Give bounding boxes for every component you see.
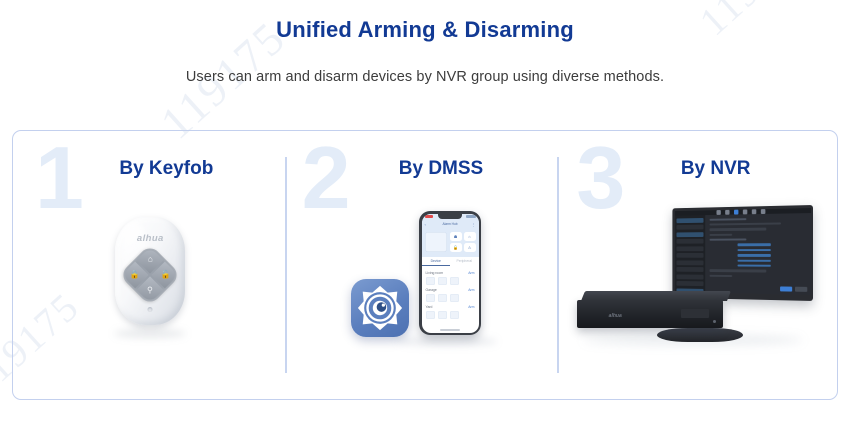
list-item[interactable]: Garage Arm: [426, 288, 475, 292]
device-chip-icon: [426, 277, 435, 285]
content-line: [709, 275, 732, 278]
group-action[interactable]: Arm: [468, 288, 474, 292]
sos-icon[interactable]: ⚠: [464, 243, 476, 252]
ai-icon[interactable]: [742, 209, 746, 214]
live-view-icon[interactable]: [716, 210, 720, 215]
method-title-keyfob: By Keyfob: [13, 158, 288, 180]
app-nav-bar: ‹ Alarm Hub ⋮: [422, 220, 479, 229]
method-column-nvr: 3 By NVR: [562, 131, 837, 399]
sidebar-item[interactable]: [676, 218, 703, 223]
nvr-body: [674, 213, 810, 295]
settings-icon[interactable]: [751, 209, 756, 214]
more-icon[interactable]: ⋮: [472, 222, 476, 227]
battery-icon: [466, 215, 476, 218]
device-chip-icon: [450, 311, 459, 319]
keyfob-shadow: [114, 329, 186, 338]
device-chip-icon: [450, 294, 459, 302]
device-group-list: Living room Arm Garage Arm Yard: [422, 266, 479, 319]
nvr-drive-slot: [681, 309, 709, 318]
method-title-nvr: By NVR: [562, 158, 837, 180]
content-line: [737, 244, 771, 246]
nvr-sidebar: [674, 215, 704, 295]
content-line: [709, 239, 747, 242]
content-line: [737, 249, 771, 251]
page-title: Unified Arming & Disarming: [0, 0, 850, 43]
back-icon[interactable]: ‹: [425, 222, 426, 227]
nvr-action-buttons: [779, 286, 806, 291]
app-hero-section: ☗ ⌂ 🔓 ⚠: [422, 229, 479, 257]
content-line: [737, 265, 771, 268]
keyfob-led-icon: [148, 307, 153, 312]
sidebar-item[interactable]: [676, 232, 703, 237]
nvr-recorder: alhua: [577, 291, 729, 331]
sidebar-item[interactable]: [676, 246, 703, 251]
group-action[interactable]: Arm: [468, 271, 474, 275]
disarm-icon[interactable]: 🔓: [450, 243, 462, 252]
monitor: [672, 205, 813, 301]
arm-away-icon[interactable]: ☗: [450, 232, 462, 241]
methods-card: 1 By Keyfob alhua ⌂ 🔓 🔒 ⚲: [12, 130, 838, 400]
list-item[interactable]: Yard Arm: [426, 305, 475, 309]
page-header: Unified Arming & Disarming Users can arm…: [0, 0, 850, 85]
sidebar-item[interactable]: [676, 239, 703, 244]
tab-peripheral[interactable]: Peripheral: [450, 259, 479, 266]
app-tabs: Device Peripheral: [422, 257, 479, 266]
monitor-bezel: [672, 205, 813, 301]
list-item[interactable]: Living room Arm: [426, 271, 475, 275]
device-thumbnail: [425, 232, 447, 252]
group-name: Living room: [426, 271, 444, 275]
nvr-power-led-icon: [713, 320, 716, 323]
monitor-screen: [674, 208, 810, 295]
content-line: [709, 233, 732, 236]
dmss-illustration: ‹ Alarm Hub ⋮ ☗ ⌂ 🔓 ⚠: [288, 209, 563, 395]
sidebar-item[interactable]: [676, 267, 703, 272]
sidebar-item[interactable]: [676, 225, 703, 230]
dahua-logo: alhua: [609, 313, 622, 319]
device-chip-icon: [450, 277, 459, 285]
back-button[interactable]: [794, 287, 806, 292]
sidebar-item[interactable]: [676, 281, 703, 286]
group-action[interactable]: Arm: [468, 305, 474, 309]
recording-indicator-icon: [425, 215, 433, 218]
method-title-dmss: By DMSS: [288, 158, 563, 180]
nvr-illustration: alhua: [562, 209, 837, 395]
device-chip-icon: [426, 294, 435, 302]
alarm-icon[interactable]: [733, 209, 737, 214]
sidebar-item[interactable]: [676, 260, 703, 265]
arm-home-icon[interactable]: ⌂: [464, 232, 476, 241]
keyfob-body: alhua ⌂ 🔓 🔒 ⚲: [115, 217, 185, 325]
apply-button[interactable]: [779, 286, 791, 291]
phone-screen: ‹ Alarm Hub ⋮ ☗ ⌂ 🔓 ⚠: [422, 214, 479, 333]
column-divider-2: [557, 157, 559, 373]
nvr-front-panel: alhua: [577, 300, 723, 328]
method-column-keyfob: 1 By Keyfob alhua ⌂ 🔓 🔒 ⚲: [13, 131, 288, 399]
group-device-row: [426, 311, 475, 319]
nvr-content: [704, 213, 810, 295]
tab-device[interactable]: Device: [422, 259, 451, 266]
app-nav-title: Alarm Hub: [442, 222, 457, 226]
content-line: [709, 222, 781, 225]
playback-icon[interactable]: [724, 209, 728, 214]
group-name: Garage: [426, 288, 437, 292]
device-chip-icon: [426, 311, 435, 319]
phone-notch: [438, 214, 462, 219]
group-device-row: [426, 277, 475, 285]
content-line: [709, 218, 747, 221]
device-chip-icon: [438, 294, 447, 302]
content-line: [709, 228, 766, 231]
device-chip-icon: [438, 311, 447, 319]
device-chip-icon: [438, 277, 447, 285]
home-indicator: [440, 329, 460, 331]
group-name: Yard: [426, 305, 433, 309]
smartphone: ‹ Alarm Hub ⋮ ☗ ⌂ 🔓 ⚠: [419, 211, 481, 335]
dmss-app-icon: [351, 279, 409, 337]
page-subtitle: Users can arm and disarm devices by NVR …: [0, 43, 850, 85]
method-column-dmss: 2 By DMSS ‹ Alarm Hub ⋮: [288, 131, 563, 399]
content-line: [737, 259, 771, 261]
keyfob-illustration: alhua ⌂ 🔓 🔒 ⚲: [13, 209, 288, 395]
dahua-logo: alhua: [115, 233, 185, 244]
content-line: [709, 270, 766, 273]
column-divider-1: [285, 157, 287, 373]
sidebar-item[interactable]: [676, 274, 703, 279]
content-line: [737, 254, 771, 256]
phone-shadow: [397, 337, 497, 346]
network-icon[interactable]: [760, 209, 765, 214]
quick-actions-grid: ☗ ⌂ 🔓 ⚠: [450, 232, 476, 252]
group-device-row: [426, 294, 475, 302]
sidebar-item[interactable]: [676, 253, 703, 258]
